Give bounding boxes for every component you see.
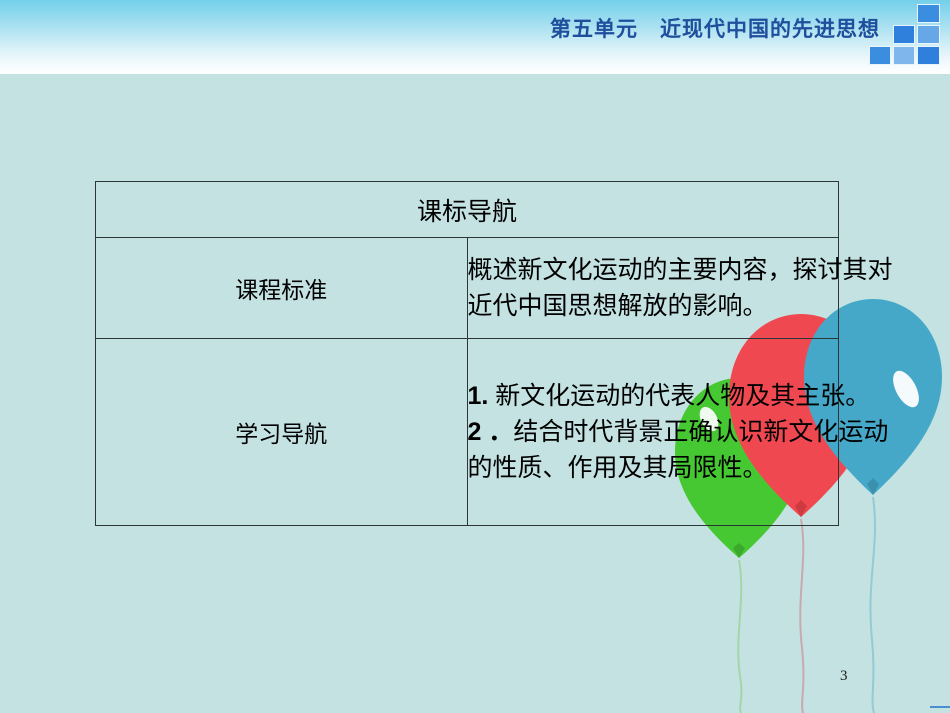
green-balloon-string xyxy=(738,560,741,713)
header-decor-square-icon xyxy=(917,46,940,65)
table-row: 学习导航 1. 新文化运动的代表人物及其主张。 2 ．结合时代背景正确认识新文化… xyxy=(96,339,839,526)
course-navigation-table: 课标导航 课程标准 概述新文化运动的主要内容，探讨其对 近代中国思想解放的影响。… xyxy=(95,181,839,526)
header-decor-square-icon xyxy=(893,25,915,44)
row-label-study-guide: 学习导航 xyxy=(96,339,468,526)
corner-accent-mark xyxy=(930,706,950,708)
red-balloon-string xyxy=(800,519,803,713)
table-row: 课程标准 概述新文化运动的主要内容，探讨其对 近代中国思想解放的影响。 xyxy=(96,238,839,339)
header-decor-square-icon xyxy=(917,4,940,23)
header-band: 第五单元 近现代中国的先进思想 xyxy=(0,0,950,74)
header-decor-square-icon xyxy=(893,46,915,65)
row-label-course-standard: 课程标准 xyxy=(96,238,468,339)
page-title: 第五单元 近现代中国的先进思想 xyxy=(0,13,880,43)
row-body-course-standard: 概述新文化运动的主要内容，探讨其对 近代中国思想解放的影响。 xyxy=(467,238,839,339)
table-title-cell: 课标导航 xyxy=(96,182,839,238)
header-decor-square-icon xyxy=(869,46,891,65)
header-decor-square-icon xyxy=(917,25,940,44)
body-line: 概述新文化运动的主要内容，探讨其对 xyxy=(468,252,839,288)
row-body-study-guide: 1. 新文化运动的代表人物及其主张。 2 ．结合时代背景正确认识新文化运动 的性… xyxy=(467,339,839,526)
blue-balloon-string xyxy=(870,497,875,713)
body-line: 2 ．结合时代背景正确认识新文化运动 xyxy=(468,414,839,450)
body-line: 近代中国思想解放的影响。 xyxy=(468,288,839,324)
page-number: 3 xyxy=(840,668,848,685)
slide-canvas: 第五单元 近现代中国的先进思想 xyxy=(0,0,950,713)
table-row-title: 课标导航 xyxy=(96,182,839,238)
body-line: 的性质、作用及其局限性。 xyxy=(468,450,839,486)
body-line: 1. 新文化运动的代表人物及其主张。 xyxy=(468,378,839,414)
